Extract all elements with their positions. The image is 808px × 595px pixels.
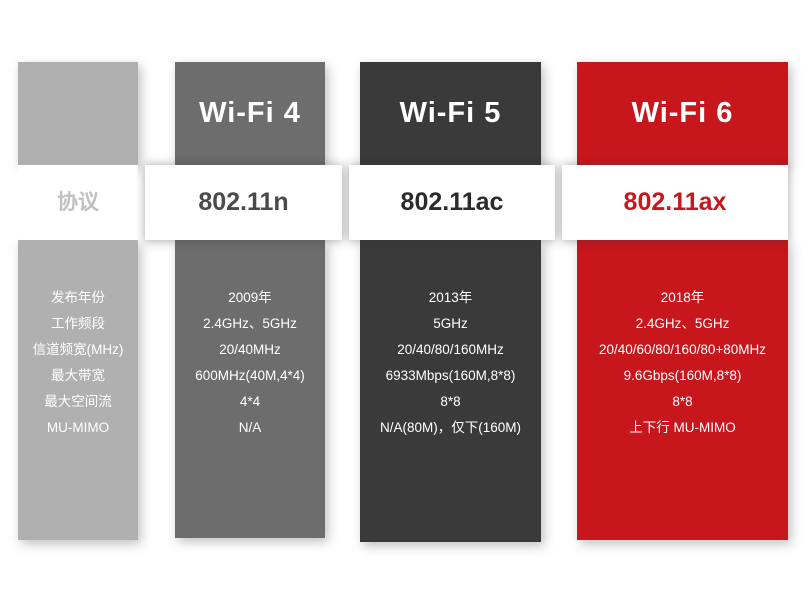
cell-wifi6-frequency-band: 2.4GHz、5GHz [577, 311, 788, 337]
cell-wifi4-max-spatial-streams: 4*4 [175, 389, 325, 415]
row-label-mu-mimo: MU-MIMO [18, 415, 138, 441]
protocol-label-text: 协议 [57, 192, 99, 213]
row-label-channel-width: 信道频宽(MHz) [18, 337, 138, 363]
cell-wifi5-frequency-band: 5GHz [360, 311, 541, 337]
cell-wifi4-release-year: 2009年 [175, 285, 325, 311]
row-label-max-bandwidth: 最大带宽 [18, 363, 138, 389]
row-label-frequency-band: 工作频段 [18, 311, 138, 337]
column-body-labels: 发布年份 工作频段 信道频宽(MHz) 最大带宽 最大空间流 MU-MIMO [18, 240, 138, 540]
protocol-cell-wifi5: 802.11ac [349, 165, 555, 240]
cell-wifi6-mu-mimo: 上下行 MU-MIMO [577, 415, 788, 441]
cell-wifi4-frequency-band: 2.4GHz、5GHz [175, 311, 325, 337]
cell-wifi6-max-bandwidth: 9.6Gbps(160M,8*8) [577, 363, 788, 389]
row-label-max-spatial-streams: 最大空间流 [18, 389, 138, 415]
column-header-wifi5: Wi-Fi 5 [360, 62, 541, 165]
column-header-wifi6: Wi-Fi 6 [577, 62, 788, 165]
cell-wifi5-max-bandwidth: 6933Mbps(160M,8*8) [360, 363, 541, 389]
cell-wifi6-channel-width: 20/40/60/80/160/80+80MHz [577, 337, 788, 363]
cell-wifi4-mu-mimo: N/A [175, 415, 325, 441]
column-header-labels [18, 62, 138, 165]
column-body-wifi6: 2018年 2.4GHz、5GHz 20/40/60/80/160/80+80M… [577, 240, 788, 540]
cell-wifi6-release-year: 2018年 [577, 285, 788, 311]
row-label-release-year: 发布年份 [18, 285, 138, 311]
column-header-wifi5-title: Wi-Fi 5 [400, 99, 502, 128]
cell-wifi5-max-spatial-streams: 8*8 [360, 389, 541, 415]
protocol-cell-wifi6: 802.11ax [562, 165, 788, 240]
protocol-cell-labels: 协议 [18, 165, 138, 240]
protocol-wifi5-text: 802.11ac [401, 190, 504, 215]
cell-wifi4-max-bandwidth: 600MHz(40M,4*4) [175, 363, 325, 389]
cell-wifi6-max-spatial-streams: 8*8 [577, 389, 788, 415]
column-header-wifi4-title: Wi-Fi 4 [199, 99, 301, 128]
protocol-wifi6-text: 802.11ax [624, 190, 727, 215]
column-body-wifi4: 2009年 2.4GHz、5GHz 20/40MHz 600MHz(40M,4*… [175, 240, 325, 538]
column-body-wifi5: 2013年 5GHz 20/40/80/160MHz 6933Mbps(160M… [360, 240, 541, 542]
wifi-comparison-chart: 发布年份 工作频段 信道频宽(MHz) 最大带宽 最大空间流 MU-MIMO W… [0, 0, 808, 595]
cell-wifi5-channel-width: 20/40/80/160MHz [360, 337, 541, 363]
cell-wifi5-release-year: 2013年 [360, 285, 541, 311]
cell-wifi5-mu-mimo: N/A(80M)，仅下(160M) [360, 415, 541, 441]
column-header-wifi4: Wi-Fi 4 [175, 62, 325, 165]
protocol-cell-wifi4: 802.11n [145, 165, 342, 240]
cell-wifi4-channel-width: 20/40MHz [175, 337, 325, 363]
protocol-wifi4-text: 802.11n [198, 190, 288, 215]
column-header-wifi6-title: Wi-Fi 6 [632, 99, 734, 128]
